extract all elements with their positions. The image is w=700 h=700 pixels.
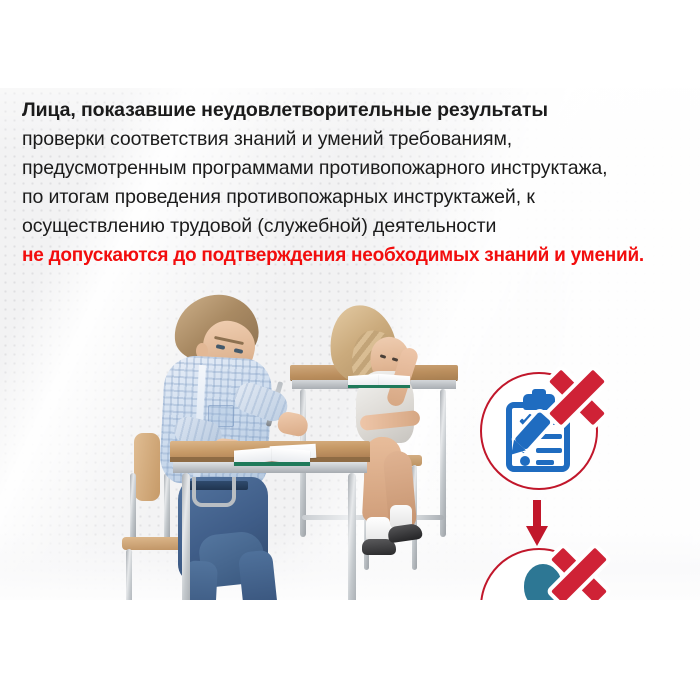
- arrow-head: [526, 526, 548, 546]
- icon-column: [470, 372, 630, 600]
- checklist-line-4: [536, 460, 554, 465]
- front-desk-leg-right: [348, 473, 356, 600]
- poster-slide: Э: [0, 0, 700, 700]
- headline-line-2: проверки соответствия знаний и умений тр…: [22, 125, 694, 154]
- front-desk-leg-left: [182, 473, 190, 600]
- front-chair-post-a: [130, 473, 136, 543]
- checklist-line-3: [536, 448, 562, 453]
- headline-line-1: Лица, показавшие неудовлетворительные ре…: [22, 96, 694, 125]
- front-desk-bag-hook: [192, 477, 236, 507]
- red-x-icon-person: [548, 544, 610, 600]
- headline-line-4: по итогам проведения противопожарных инс…: [22, 183, 694, 212]
- school-desks-illustration: [120, 283, 450, 600]
- headline-line-5: осуществлению трудовой (служебной) деяте…: [22, 212, 694, 241]
- headline-text-block: Лица, показавшие неудовлетворительные ре…: [22, 96, 694, 270]
- back-book-spine: [348, 385, 410, 388]
- red-x-icon-checklist: [546, 366, 608, 428]
- front-book-spine: [234, 462, 310, 466]
- headline-line-6-warning: не допускаются до подтверждения необходи…: [22, 241, 694, 270]
- front-open-book: [234, 449, 310, 467]
- boy-hand-right: [276, 410, 310, 438]
- arrow-down-icon: [526, 500, 548, 546]
- arrow-shaft: [533, 500, 541, 528]
- back-open-book: [348, 375, 410, 389]
- front-chair-leg-a: [126, 549, 132, 600]
- headline-line-3: предусмотренным программами противопожар…: [22, 154, 694, 183]
- checklist-line-2: [536, 434, 562, 439]
- bullet-dot-icon: [520, 456, 530, 466]
